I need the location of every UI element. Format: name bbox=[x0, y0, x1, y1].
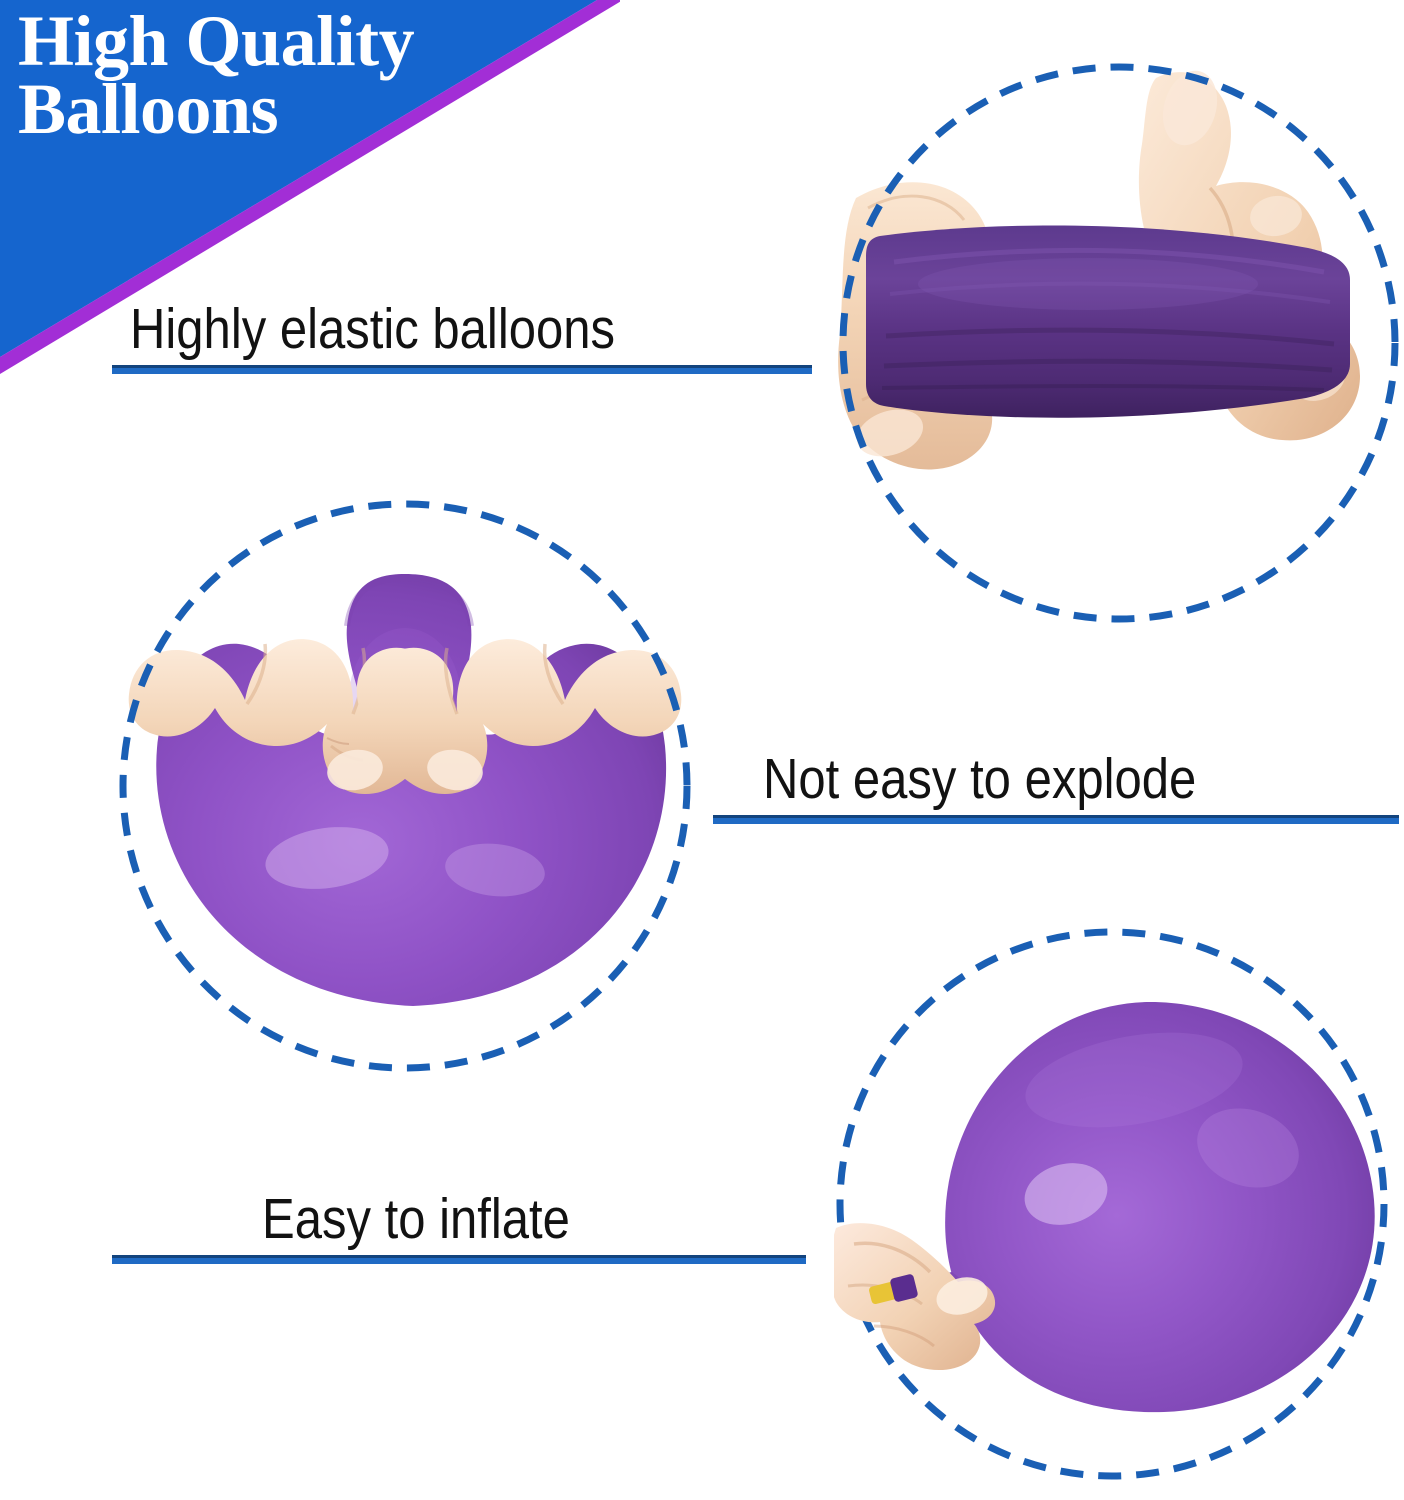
hands-stretching-balloon-photo bbox=[838, 48, 1404, 638]
stretched-balloon bbox=[866, 225, 1350, 417]
feature-label: Not easy to explode bbox=[763, 750, 1310, 809]
page-title-line-2: Balloons bbox=[18, 76, 538, 144]
inflated-balloon bbox=[926, 1002, 1375, 1412]
caption-underline bbox=[112, 1255, 806, 1264]
pressed-balloon bbox=[156, 574, 666, 1006]
feature-caption-not-easy-to-explode: Not easy to explode bbox=[713, 750, 1399, 824]
feature-caption-highly-elastic: Highly elastic balloons bbox=[112, 300, 812, 374]
feature-label: Easy to inflate bbox=[262, 1190, 730, 1249]
hands-pressing-balloon-photo bbox=[115, 498, 695, 1078]
caption-underline bbox=[112, 365, 812, 374]
hand-holding-inflated-balloon-photo bbox=[834, 922, 1404, 1500]
feature-label: Highly elastic balloons bbox=[130, 300, 717, 359]
feature-caption-easy-to-inflate: Easy to inflate bbox=[112, 1190, 806, 1264]
page-title: High Quality Balloons bbox=[18, 8, 538, 143]
product-infographic: High Quality Balloons Highly elastic bal… bbox=[0, 0, 1404, 1500]
caption-underline bbox=[713, 815, 1399, 824]
